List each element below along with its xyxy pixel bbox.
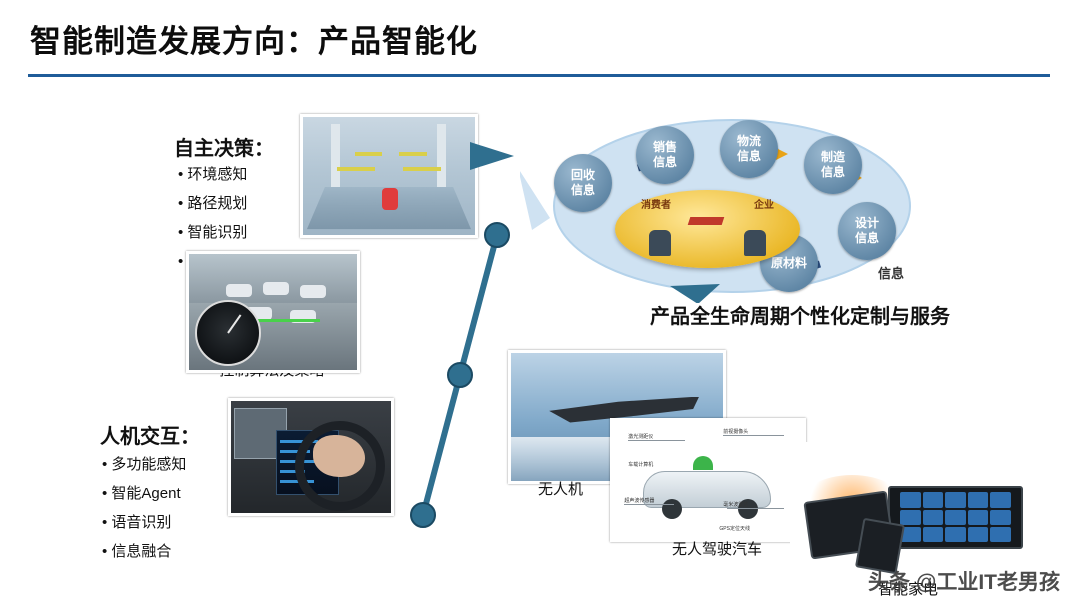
section-heading-autonomous-decision: 自主决策：: [174, 132, 274, 161]
list-item: 路径规划: [178, 189, 247, 218]
list-item: 多功能感知: [102, 450, 186, 479]
gallery-caption-self-driving-car: 无人驾驶汽车: [672, 538, 762, 559]
title-divider: [28, 74, 1050, 77]
page-title: 智能制造发展方向：产品智能化: [30, 16, 478, 61]
gallery-caption-uav: 无人机: [538, 478, 583, 499]
lifecycle-node-logistics: 物流信息: [720, 120, 778, 178]
consumer-label: 消费者: [641, 196, 671, 211]
enterprise-avatar: [744, 230, 766, 256]
television-icon: [888, 486, 1024, 549]
product-lifecycle-diagram: 回收信息 销售信息 物流信息 制造信息 设计信息 原材料 消费者 企业: [520, 108, 940, 303]
list-item: 语音识别: [102, 508, 186, 537]
list-item: 智能识别: [178, 218, 247, 247]
highway-driving-photo: [186, 251, 360, 373]
section-heading-human-machine-interaction: 人机交互：: [100, 420, 200, 449]
lifecycle-outer-label: 信息: [878, 263, 904, 282]
list-item: 智能Agent: [102, 479, 186, 508]
in-car-hmi-photo: [228, 398, 394, 516]
lifecycle-node-design: 设计信息: [838, 202, 896, 260]
lifecycle-node-recycle: 回收信息: [554, 154, 612, 212]
connector-timeline: [400, 215, 520, 535]
lifecycle-node-manufacturing: 制造信息: [804, 136, 862, 194]
enterprise-label: 企业: [754, 196, 774, 211]
list-item: 信息融合: [102, 537, 186, 566]
exchange-arrow-icon: [688, 217, 725, 225]
smart-home-appliances-photo: [790, 442, 1031, 583]
consumer-avatar: [649, 230, 671, 256]
bullet-list-human-machine-interaction: 多功能感知 智能Agent 语音识别 信息融合: [102, 450, 186, 566]
self-driving-car-diagram: 激光测距仪 前视摄像头 超声波传感器 毫米波雷达 GPS定位天线 车载计算机: [610, 418, 806, 542]
lifecycle-center-hub: 消费者 企业: [615, 190, 800, 268]
watermark: 头条 @工业IT老男孩: [868, 566, 1060, 596]
lifecycle-title: 产品全生命周期个性化定制与服务: [650, 300, 950, 329]
list-item: 环境感知: [178, 160, 247, 189]
speedometer-icon: [195, 300, 261, 366]
lifecycle-node-sales: 销售信息: [636, 126, 694, 184]
